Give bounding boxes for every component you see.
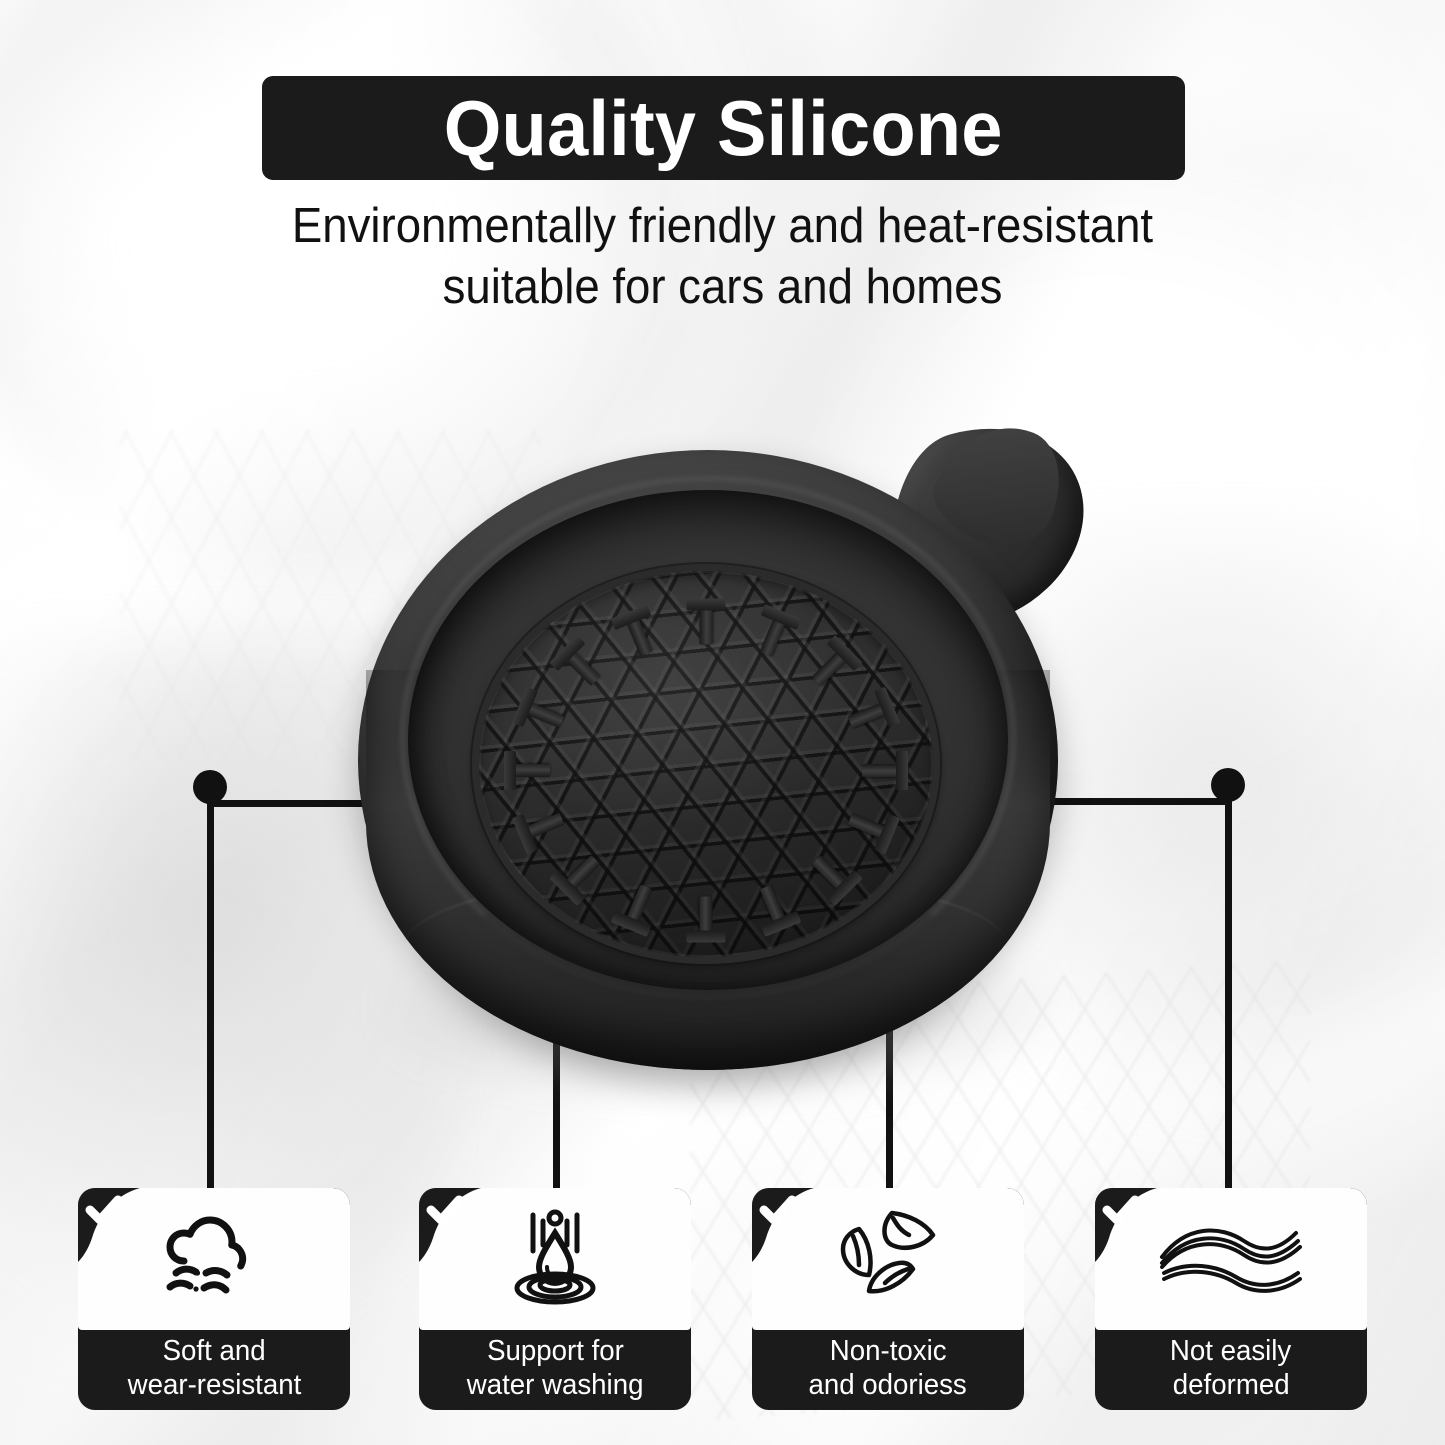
mesh-tick	[521, 700, 565, 728]
product-image	[330, 420, 1090, 1090]
feature-label-1-line-1: Soft and	[162, 1334, 265, 1368]
feature-label-1-line-2: wear-resistant	[127, 1368, 301, 1402]
subtitle-line-2: suitable for cars and homes	[51, 257, 1395, 318]
connector-dot-4	[1211, 768, 1245, 802]
mesh-tick	[561, 647, 600, 686]
mesh-tick	[561, 855, 600, 894]
mesh-tick	[848, 700, 892, 728]
feature-badge-4[interactable]: Not easily deformed	[1095, 1188, 1367, 1410]
three-leaves-eco-icon	[829, 1207, 947, 1311]
checkmark-icon	[419, 1188, 493, 1262]
headline-banner: Quality Silicone	[262, 76, 1185, 180]
mesh-tick	[624, 884, 652, 928]
feature-label-4-line-1: Not easily	[1170, 1334, 1291, 1368]
connector-line-4-vertical	[1225, 798, 1232, 1195]
connector-line-1-vertical	[207, 800, 214, 1195]
feature-label-1: Soft and wear-resistant	[78, 1330, 350, 1410]
mesh-tick	[700, 603, 713, 645]
feature-label-3-line-1: Non-toxic	[830, 1334, 947, 1368]
checkmark-icon	[1095, 1188, 1169, 1262]
feature-label-2: Support for water washing	[419, 1330, 691, 1410]
water-droplet-ripple-icon	[499, 1209, 611, 1309]
mesh-tick	[760, 884, 788, 928]
mesh-tick	[812, 647, 851, 686]
feature-badge-2[interactable]: Support for water washing	[419, 1188, 691, 1410]
feature-label-3-line-2: and odoriess	[809, 1368, 967, 1402]
connector-dot-1	[193, 770, 227, 804]
subtitle: Environmentally friendly and heat-resist…	[0, 196, 1445, 318]
mesh-tick	[700, 897, 713, 939]
mesh-tick	[508, 764, 550, 777]
cloud-with-wind-lines-icon	[154, 1213, 274, 1305]
page-title: Quality Silicone	[444, 89, 1003, 167]
subtitle-line-1: Environmentally friendly and heat-resist…	[51, 196, 1395, 257]
product-marketing-image: Quality Silicone Environmentally friendl…	[0, 0, 1445, 1445]
checkmark-icon	[78, 1188, 152, 1262]
mesh-tick	[862, 764, 904, 777]
wavy-layered-lines-icon	[1156, 1217, 1306, 1301]
mesh-tick	[848, 813, 892, 841]
feature-label-3: Non-toxic and odoriess	[752, 1330, 1024, 1410]
mesh-tick	[624, 613, 652, 657]
checkmark-icon	[752, 1188, 826, 1262]
feature-badge-1[interactable]: Soft and wear-resistant	[78, 1188, 350, 1410]
feature-label-4: Not easily deformed	[1095, 1330, 1367, 1410]
feature-label-2-line-1: Support for	[487, 1334, 624, 1368]
product-mesh-ring	[472, 564, 940, 964]
feature-label-2-line-2: water washing	[467, 1368, 644, 1402]
feature-label-4-line-2: deformed	[1173, 1368, 1290, 1402]
feature-badge-3[interactable]: Non-toxic and odoriess	[752, 1188, 1024, 1410]
mesh-tick	[521, 813, 565, 841]
mesh-tick	[812, 855, 851, 894]
mesh-tick	[760, 613, 788, 657]
